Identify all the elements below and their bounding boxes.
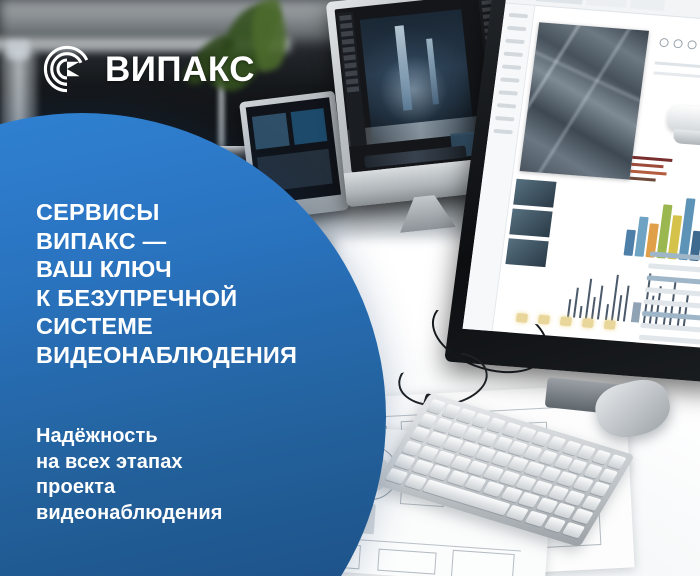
- headline-line-6: ВИДЕОНАБЛЮДЕНИЯ: [36, 341, 366, 370]
- headline-line-4: К БЕЗУПРЕЧНОЙ: [36, 284, 366, 313]
- headline-line-1: СЕРВИСЫ: [36, 198, 366, 227]
- camera-thumbnails: [505, 179, 557, 271]
- subheadline-line-2: на всех этапах: [36, 450, 366, 476]
- headline-line-5: СИСТЕМЕ: [36, 312, 366, 341]
- headline: СЕРВИСЫ ВИПАКС — ВАШ КЛЮЧ К БЕЗУПРЕЧНОЙ …: [36, 198, 366, 369]
- dashboard-toolbar: [654, 34, 700, 63]
- dashboard-screen: [463, 0, 700, 349]
- brand-name: ВИПАКС: [105, 52, 255, 87]
- headline-line-2: ВИПАКС —: [36, 227, 366, 256]
- subheadline-line-3: проекта: [36, 475, 366, 501]
- subheadline-line-4: видеонаблюдения: [36, 501, 366, 527]
- headline-line-3: ВАШ КЛЮЧ: [36, 255, 366, 284]
- ptz-camera-photo: [660, 94, 700, 151]
- brand-logo[interactable]: ВИПАКС: [40, 42, 255, 96]
- promo-banner: ВИПАКС СЕРВИСЫ ВИПАКС — ВАШ КЛЮЧ К БЕЗУП…: [0, 0, 700, 576]
- subheadline-line-1: Надёжность: [36, 424, 366, 450]
- subheadline: Надёжность на всех этапах проекта видеон…: [36, 424, 366, 526]
- aerial-site-plan: [520, 22, 649, 179]
- chart-legend: [629, 156, 675, 187]
- vipaks-logo-icon: [40, 42, 94, 96]
